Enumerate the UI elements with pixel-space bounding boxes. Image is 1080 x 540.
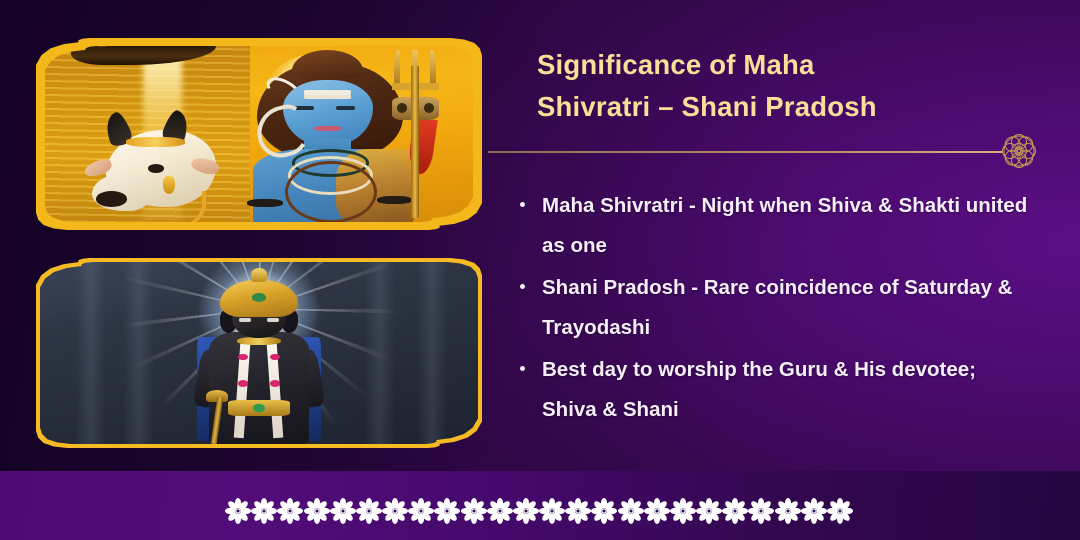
trident-staff: [411, 66, 419, 218]
eight-petal-flower-icon: [408, 496, 434, 526]
shani-artwork: [40, 262, 478, 444]
shani-bead: [238, 354, 248, 361]
nandi-garland: [146, 191, 206, 222]
shiva-eye-right: [336, 106, 356, 110]
nandi-eye: [148, 164, 164, 173]
eight-petal-flower-icon: [382, 496, 408, 526]
shani-gold-necklace: [237, 337, 282, 345]
eight-petal-flower-icon: [251, 496, 277, 526]
shani-bead: [270, 354, 280, 361]
title-divider: [488, 151, 1003, 153]
shani-eye-left: [239, 318, 250, 321]
bullet-list: Maha Shivratri - Night when Shiva & Shak…: [514, 186, 1034, 432]
shiva-armband-left: [247, 199, 282, 207]
eight-petal-flower-icon: [461, 496, 487, 526]
shani-eye-right: [267, 318, 278, 321]
eight-petal-flower-icon: [434, 496, 460, 526]
trident-prong-right: [430, 50, 436, 87]
crown-gem: [252, 293, 266, 301]
shani-dev-figure: [189, 277, 329, 444]
eight-petal-flower-icon: [304, 496, 330, 526]
eight-petal-flower-icon: [330, 496, 356, 526]
shiva-nandi-photo: [45, 46, 473, 222]
list-item: Shani Pradosh - Rare coincidence of Satu…: [514, 268, 1034, 348]
eight-petal-flower-icon: [277, 496, 303, 526]
list-item: Best day to worship the Guru & His devot…: [514, 350, 1034, 430]
slide-canvas: Significance of Maha Shivratri – Shani P…: [0, 0, 1080, 540]
shani-dev-photo: [40, 262, 478, 444]
shani-belt-gem: [253, 404, 264, 412]
trident-prong-left: [394, 50, 400, 87]
nandi-forehead-ornament: [126, 137, 185, 147]
crown-finial: [251, 268, 268, 281]
shani-bead: [238, 380, 248, 387]
shani-dev-image-frame: [36, 258, 482, 448]
page-title: Significance of Maha Shivratri – Shani P…: [537, 44, 967, 128]
page-title-line-2: Shivratri – Shani Pradosh: [537, 86, 967, 128]
shiva-nandi-image-frame: [36, 38, 482, 230]
nandi-bull: [84, 113, 225, 222]
eight-petal-flower-icon: [225, 496, 251, 526]
shiva-tripundra-tilak: [304, 90, 351, 95]
nandi-nose: [96, 191, 127, 206]
eight-petal-flower-icon: [356, 496, 382, 526]
page-title-line-1: Significance of Maha: [537, 44, 967, 86]
content-column: Significance of Maha Shivratri – Shani P…: [488, 0, 1080, 540]
shani-bead: [270, 380, 280, 387]
temple-pillar: [417, 262, 448, 444]
shiva-rudraksha-mala: [285, 161, 378, 222]
boat-figure: [97, 46, 107, 47]
shiva-artwork: [45, 46, 473, 222]
temple-pillar: [75, 262, 106, 444]
trident-icon: [387, 50, 443, 219]
shiva-lips: [314, 126, 342, 131]
shiva-top-knot: [292, 50, 363, 80]
mandala-flower-icon: [995, 127, 1043, 175]
shani-torso: [209, 332, 310, 444]
list-item: Maha Shivratri - Night when Shiva & Shak…: [514, 186, 1034, 266]
